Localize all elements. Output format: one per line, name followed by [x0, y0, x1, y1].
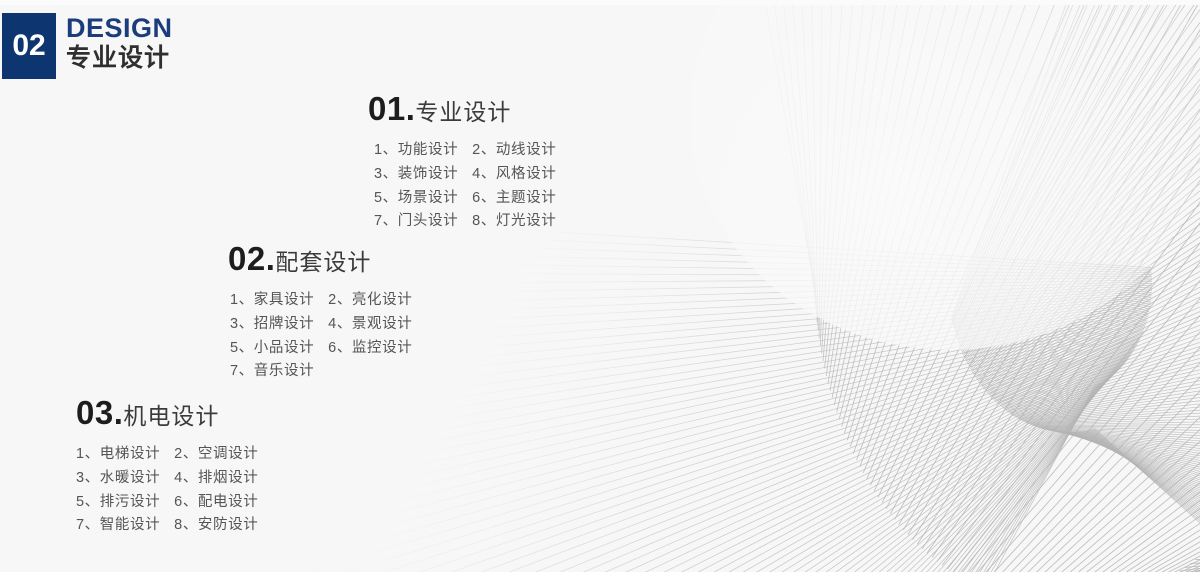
item-cell: 4、排烟设计 — [174, 467, 258, 491]
item-cell: 1、功能设计 — [374, 139, 458, 163]
item-cell: 7、智能设计 — [76, 514, 160, 538]
section-number-label: 02 — [12, 31, 45, 61]
page-subtitle: 专业设计 — [66, 43, 173, 73]
block-heading: 01.专业设计 — [368, 92, 556, 125]
item-cell: 8、安防设计 — [174, 514, 258, 538]
page-title: DESIGN — [66, 14, 173, 42]
list-item: 5、小品设计6、监控设计 — [228, 337, 412, 361]
block-name-label: 专业设计 — [415, 99, 511, 125]
list-item: 1、家具设计2、亮化设计 — [228, 289, 412, 313]
item-cell: 4、景观设计 — [328, 313, 412, 337]
top-hairline-strip — [0, 0, 1200, 5]
item-cell: 6、配电设计 — [174, 491, 258, 515]
item-cell: 2、亮化设计 — [328, 289, 412, 313]
item-cell: 5、小品设计 — [230, 337, 314, 361]
header-text-group: DESIGN 专业设计 — [66, 14, 173, 73]
item-cell: 8、灯光设计 — [472, 210, 556, 234]
item-cell: 2、动线设计 — [472, 139, 556, 163]
block-name-label: 配套设计 — [275, 249, 371, 275]
item-cell: 2、空调设计 — [174, 443, 258, 467]
item-cell: 3、招牌设计 — [230, 313, 314, 337]
item-cell: 7、门头设计 — [374, 210, 458, 234]
content-block-02: 02.配套设计 1、家具设计2、亮化设计 3、招牌设计4、景观设计 5、小品设计… — [228, 242, 412, 384]
item-cell: 5、排污设计 — [76, 491, 160, 515]
item-cell: 4、风格设计 — [472, 163, 556, 187]
slide-canvas: 02 DESIGN 专业设计 01.专业设计 1、功能设计2、动线设计 3、装饰… — [0, 0, 1200, 572]
block-name-label: 机电设计 — [123, 403, 219, 429]
list-item: 3、招牌设计4、景观设计 — [228, 313, 412, 337]
list-item: 7、智能设计8、安防设计 — [76, 514, 258, 538]
list-item: 5、场景设计6、主题设计 — [368, 187, 556, 211]
item-cell: 5、场景设计 — [374, 187, 458, 211]
item-cell: 1、电梯设计 — [76, 443, 160, 467]
section-number-badge: 02 — [2, 13, 56, 79]
list-item: 1、电梯设计2、空调设计 — [76, 443, 258, 467]
list-item: 1、功能设计2、动线设计 — [368, 139, 556, 163]
item-cell: 3、水暖设计 — [76, 467, 160, 491]
item-cell: 7、音乐设计 — [230, 360, 314, 384]
block-heading: 03.机电设计 — [76, 396, 258, 429]
list-item: 7、音乐设计 — [228, 360, 412, 384]
content-block-01: 01.专业设计 1、功能设计2、动线设计 3、装饰设计4、风格设计 5、场景设计… — [368, 92, 556, 234]
block-index-label: 02. — [228, 240, 275, 277]
decoration-light-bloom — [690, 0, 1200, 350]
list-item: 3、水暖设计4、排烟设计 — [76, 467, 258, 491]
item-cell: 6、主题设计 — [472, 187, 556, 211]
block-index-label: 01. — [368, 90, 415, 127]
list-item: 5、排污设计6、配电设计 — [76, 491, 258, 515]
list-item: 3、装饰设计4、风格设计 — [368, 163, 556, 187]
content-block-03: 03.机电设计 1、电梯设计2、空调设计 3、水暖设计4、排烟设计 5、排污设计… — [76, 396, 258, 538]
block-heading: 02.配套设计 — [228, 242, 412, 275]
list-item: 7、门头设计8、灯光设计 — [368, 210, 556, 234]
item-cell: 6、监控设计 — [328, 337, 412, 361]
item-cell: 1、家具设计 — [230, 289, 314, 313]
block-index-label: 03. — [76, 394, 123, 431]
item-cell: 3、装饰设计 — [374, 163, 458, 187]
